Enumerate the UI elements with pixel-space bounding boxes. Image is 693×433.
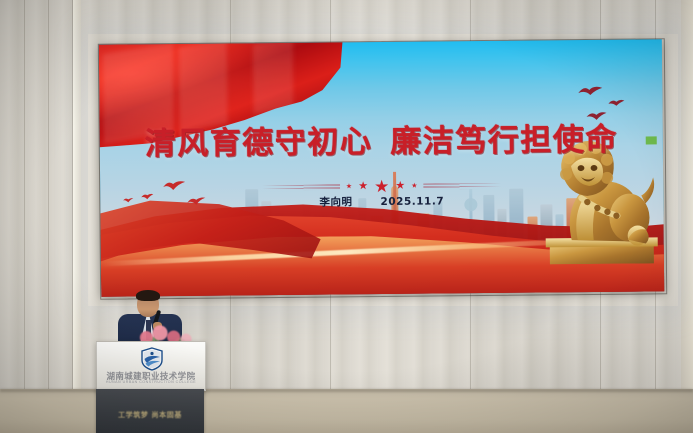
lower-banner-text: 工学筑梦 尚本固基 [96,410,204,420]
star-icon: ★ [411,183,417,190]
podium: 湖南城建职业技术学院 HUNAN URBAN CONSTRUCTION COLL… [96,341,206,391]
podium-lower-banner: 工学筑梦 尚本固基 [96,389,204,433]
event-date: 2025.11.7 [380,195,444,208]
wall-seam [48,0,49,400]
star-icon: ★ [374,178,389,195]
led-display-screen[interactable]: 清风育德守初心廉洁笃行担使命 ★ ★ ★ ★ ★ 李向明2025.11.7 [99,39,664,296]
banner-title-part2: 廉洁笃行担使命 [390,122,618,160]
banner-title: 清风育德守初心廉洁笃行担使命 [100,113,663,163]
stage-photo-scene: 清风育德守初心廉洁笃行担使命 ★ ★ ★ ★ ★ 李向明2025.11.7 [0,0,693,433]
star-icon: ★ [346,183,352,190]
speaker-name: 李向明 [319,196,352,208]
wall-seam [24,0,25,400]
divider-line-right [423,182,501,189]
speaker-hair [136,290,160,301]
podium-institution-pinyin: HUNAN URBAN CONSTRUCTION COLLEGE [97,380,205,384]
school-emblem-icon [141,347,163,371]
bird-icon [577,84,603,98]
green-pixel-artifact [646,136,657,144]
bird-icon [607,98,625,108]
banner-title-part1: 清风育德守初心 [145,124,373,162]
divider-line-left [262,184,340,191]
star-icon: ★ [358,181,368,192]
star-icon: ★ [395,181,405,192]
wall-light-edge [73,0,81,400]
wall-right-edge [681,0,693,433]
